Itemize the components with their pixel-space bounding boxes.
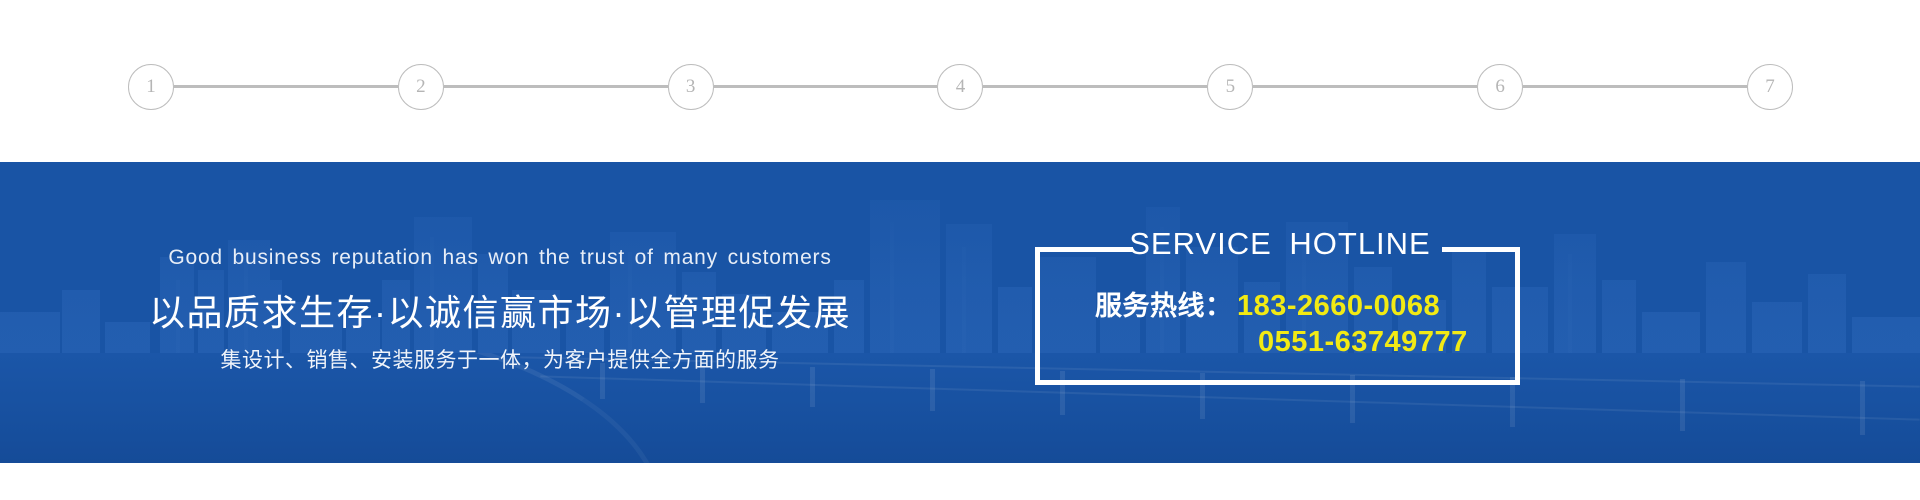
step-node-1-label: 1 [146, 77, 156, 96]
hotline-border-top-right [1442, 247, 1520, 252]
hotline-title: SERVICE HOTLINE [1125, 226, 1435, 262]
hotline-label: 服务热线： [1095, 291, 1233, 321]
hotline-number-primary[interactable]: 183-2660-0068 [1237, 290, 1440, 322]
step-node-6-label: 6 [1495, 77, 1505, 96]
hotline-primary-row: 服务热线： 183-2660-0068 [1035, 284, 1520, 323]
step-node-1[interactable]: 1 [128, 64, 174, 110]
step-node-5[interactable]: 5 [1207, 64, 1253, 110]
step-node-4[interactable]: 4 [937, 64, 983, 110]
step-node-7[interactable]: 7 [1747, 64, 1793, 110]
step-node-3[interactable]: 3 [668, 64, 714, 110]
step-progress-bar: 1 2 3 4 5 6 7 [128, 63, 1793, 110]
step-node-3-label: 3 [686, 77, 696, 96]
slogan-english: Good business reputation has won the tru… [0, 246, 1000, 270]
step-node-6[interactable]: 6 [1477, 64, 1523, 110]
hotline-secondary-row: 0551-63749777 [1035, 326, 1520, 359]
bottom-white-strip [0, 463, 1920, 500]
guardrail-post [1680, 379, 1685, 431]
step-connector-5-6 [1253, 85, 1477, 88]
slogan-chinese-main: 以品质求生存·以诚信赢市场·以管理促发展 [0, 284, 1000, 336]
step-connector-3-4 [714, 85, 938, 88]
hotline-number-secondary[interactable]: 0551-63749777 [1258, 326, 1468, 358]
slogan-block: Good business reputation has won the tru… [0, 162, 1000, 463]
slogan-chinese-sub: 集设计、销售、安装服务于一体，为客户提供全方面的服务 [0, 344, 1000, 374]
step-connector-2-3 [444, 85, 668, 88]
step-node-7-label: 7 [1765, 77, 1775, 96]
step-node-2-label: 2 [416, 77, 426, 96]
hotline-border-top-left [1035, 247, 1133, 252]
step-connector-4-5 [983, 85, 1207, 88]
step-node-5-label: 5 [1226, 77, 1236, 96]
guardrail-post [1860, 381, 1865, 435]
promo-banner: Good business reputation has won the tru… [0, 162, 1920, 463]
step-connector-1-2 [174, 85, 398, 88]
stepper-strip: 1 2 3 4 5 6 7 [0, 0, 1920, 162]
hotline-border-bottom [1035, 380, 1520, 385]
service-hotline-box: SERVICE HOTLINE 服务热线： 183-2660-0068 0551… [1035, 247, 1520, 385]
step-node-4-label: 4 [956, 77, 966, 96]
step-node-2[interactable]: 2 [398, 64, 444, 110]
step-connector-6-7 [1523, 85, 1747, 88]
